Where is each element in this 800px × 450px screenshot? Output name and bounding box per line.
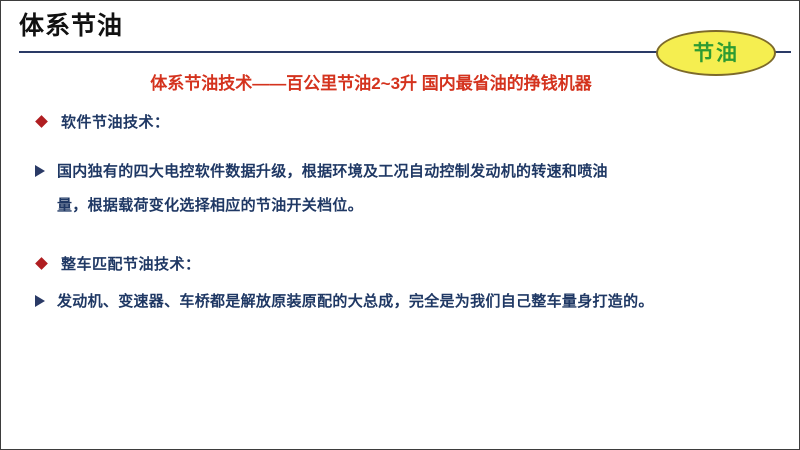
status-badge: 节油: [656, 30, 776, 76]
section-heading-label: 软件节油技术：: [61, 114, 170, 131]
bullet-line-2: 量，根据载荷变化选择相应的节油开关档位。: [57, 189, 761, 223]
section-heading-label: 整车匹配节油技术：: [61, 256, 201, 273]
slide-canvas: 体系节油 节油 体系节油技术——百公里节油2~3升 国内最省油的挣钱机器 软件节…: [0, 0, 800, 450]
headline-text: 体系节油技术——百公里节油2~3升 国内最省油的挣钱机器: [1, 71, 741, 97]
arrow-bullet-icon: [35, 165, 45, 177]
spacer: [1, 277, 800, 285]
bullet-point-vehicle-match: 发动机、变速器、车桥都是解放原装原配的大总成，完全是为我们自己整车量身打造的。: [1, 285, 800, 319]
bullet-line-1: 国内独有的四大电控软件数据升级，根据环境及工况自动控制发动机的转速和喷油: [57, 155, 761, 189]
diamond-bullet-icon: [35, 115, 48, 128]
arrow-bullet-icon: [35, 295, 45, 307]
page-title: 体系节油: [19, 9, 123, 43]
spacer: [1, 223, 800, 253]
bullet-point-software: 国内独有的四大电控软件数据升级，根据环境及工况自动控制发动机的转速和喷油 量，根…: [1, 155, 800, 223]
body-content: 软件节油技术： 国内独有的四大电控软件数据升级，根据环境及工况自动控制发动机的转…: [1, 111, 800, 319]
bullet-line-1: 发动机、变速器、车桥都是解放原装原配的大总成，完全是为我们自己整车量身打造的。: [57, 285, 761, 319]
section-heading-software: 软件节油技术：: [1, 111, 800, 135]
section-heading-vehicle-match: 整车匹配节油技术：: [1, 253, 800, 277]
status-badge-label: 节油: [693, 43, 739, 64]
spacer: [1, 135, 800, 155]
diamond-bullet-icon: [35, 257, 48, 270]
